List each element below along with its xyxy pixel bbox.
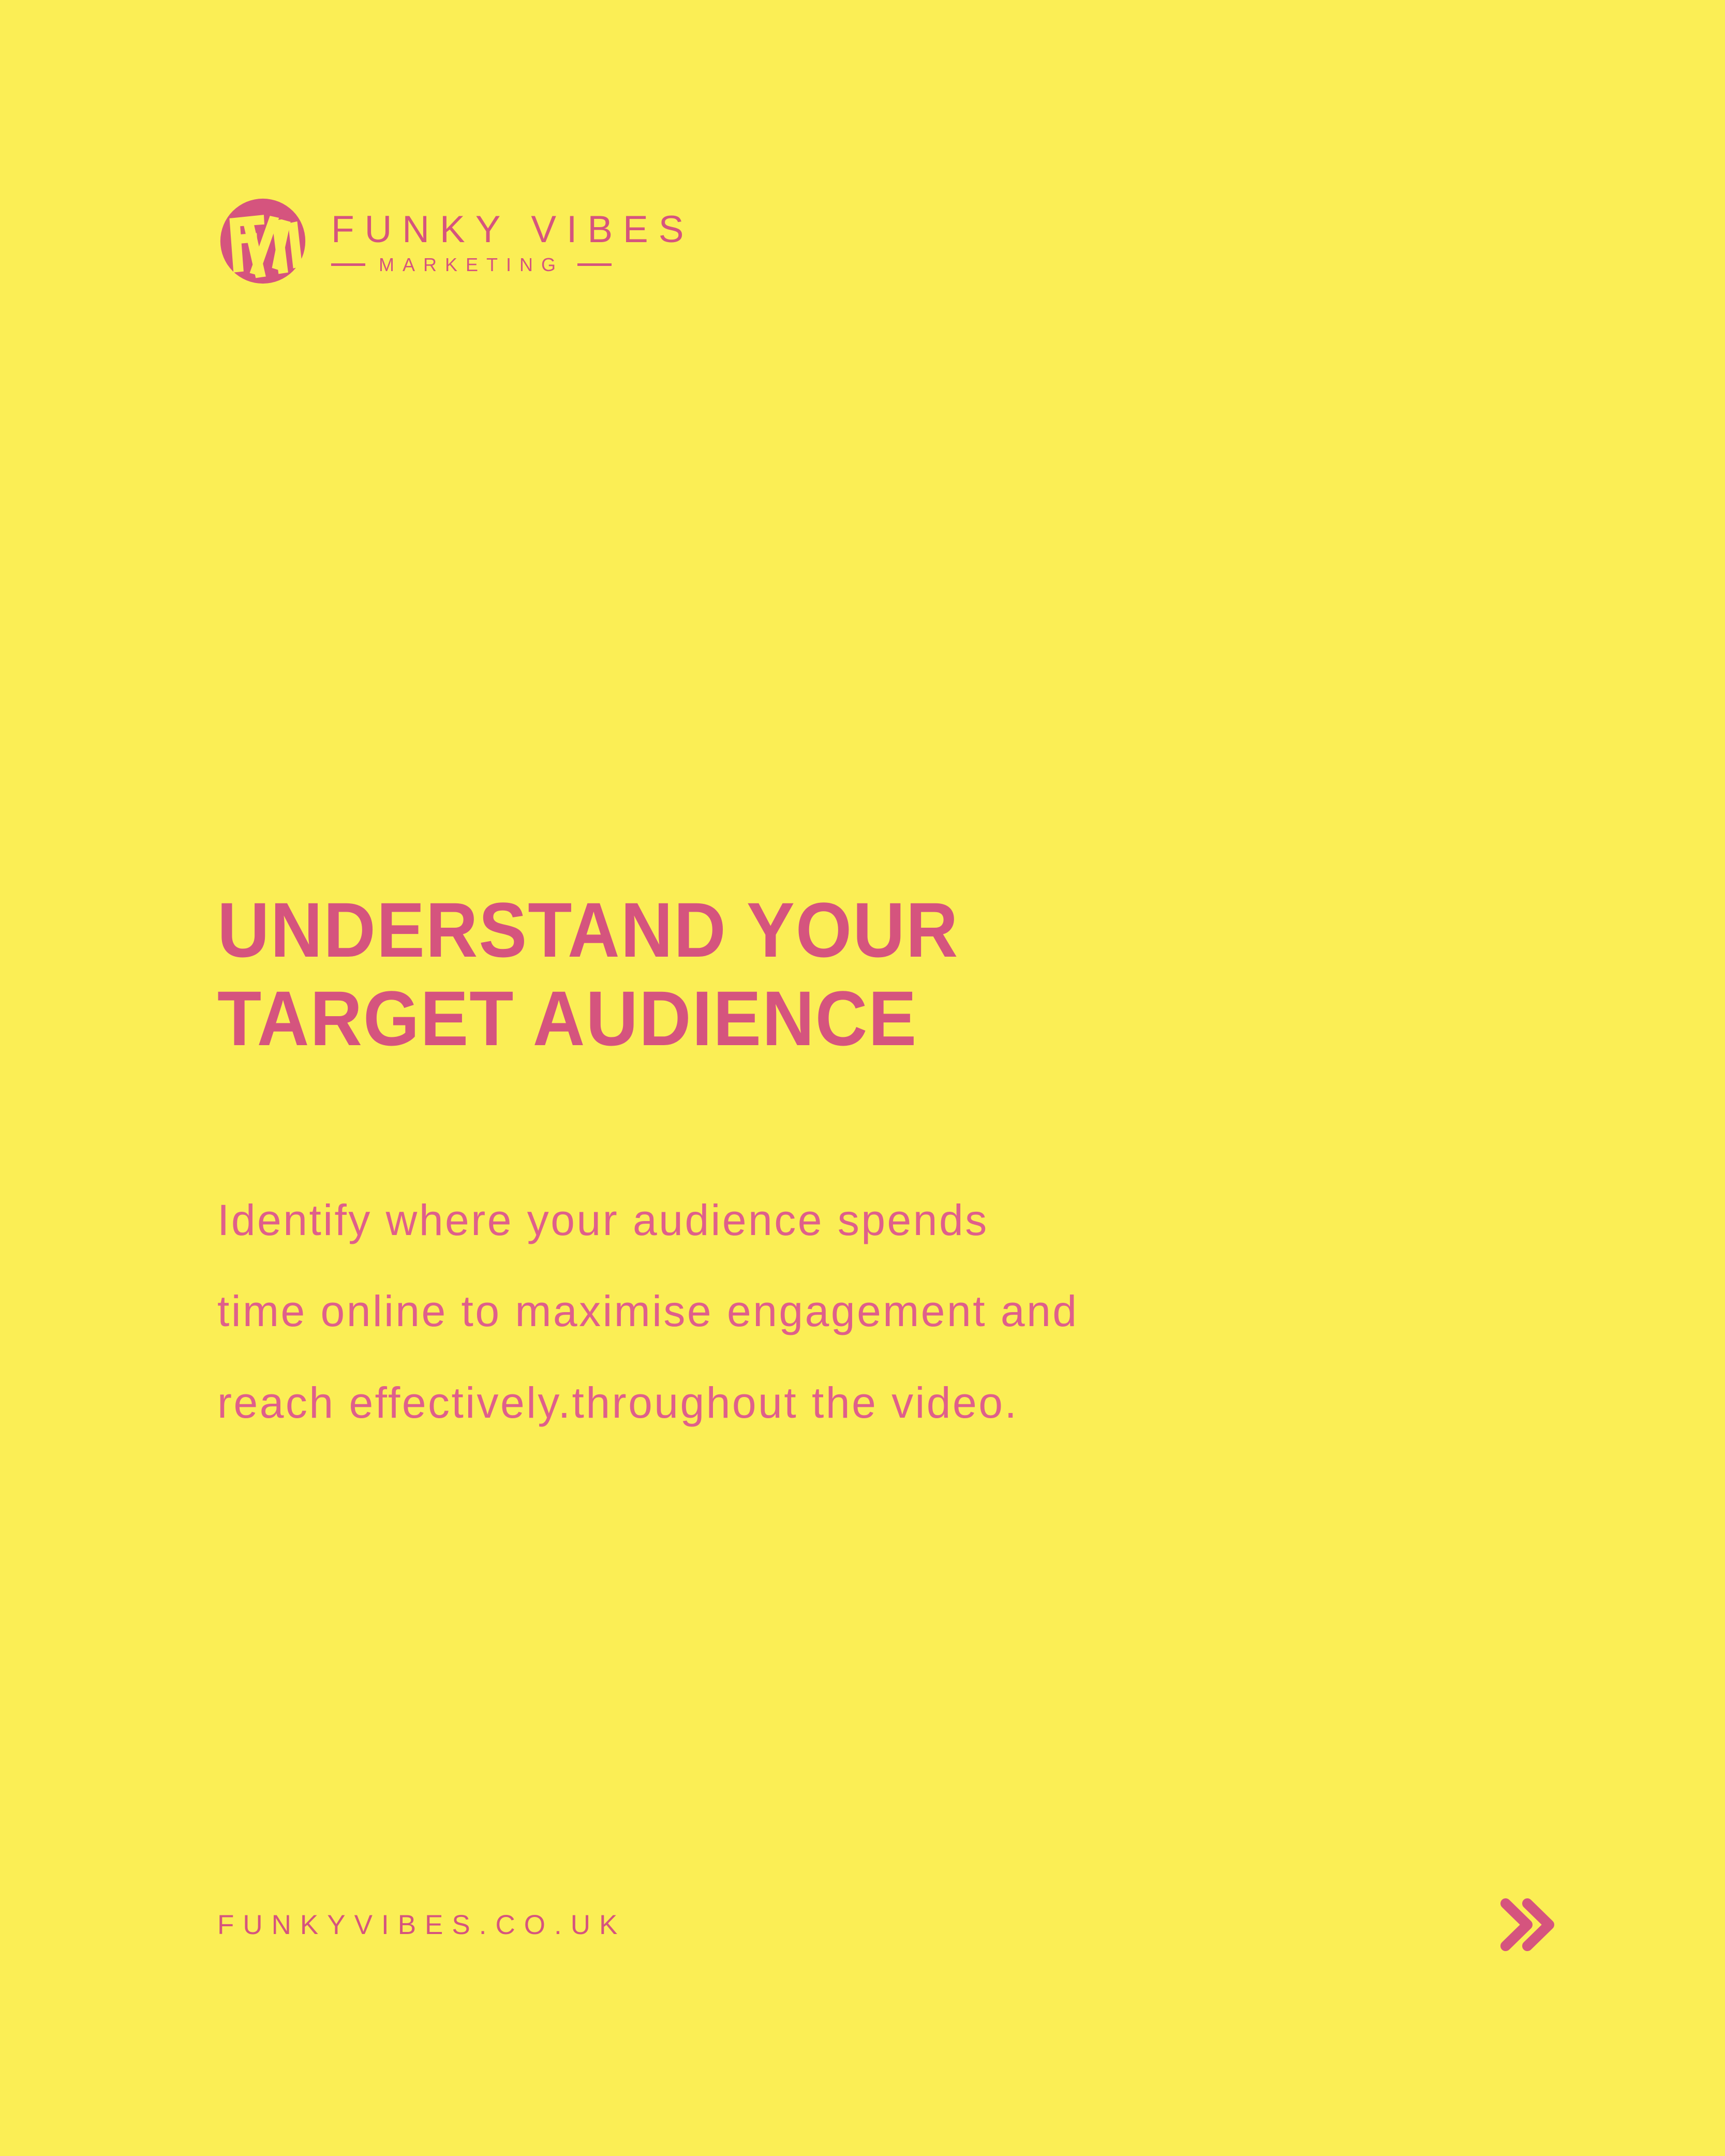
tagline-rule-right bbox=[577, 263, 612, 266]
footer: FUNKYVIBES.CO.UK bbox=[217, 1894, 1554, 1956]
body-line-1: Identify where your audience spends bbox=[217, 1174, 1573, 1266]
headline-line-2: TARGET AUDIENCE bbox=[217, 974, 1324, 1063]
brand-logo-lockup[interactable]: FUNKY VIBES MARKETING bbox=[217, 196, 694, 287]
brand-tagline: MARKETING bbox=[379, 256, 564, 274]
tagline-rule-left bbox=[331, 263, 365, 266]
headline-line-1: UNDERSTAND YOUR bbox=[217, 886, 1324, 974]
slide-canvas: FUNKY VIBES MARKETING UNDERSTAND YOUR TA… bbox=[0, 0, 1725, 2156]
double-chevron-right-icon[interactable] bbox=[1497, 1894, 1554, 1955]
brand-wordmark: FUNKY VIBES MARKETING bbox=[331, 209, 694, 274]
body-line-2: time online to maximise engagement and bbox=[217, 1266, 1573, 1357]
page-title: UNDERSTAND YOUR TARGET AUDIENCE bbox=[217, 886, 1324, 1063]
brand-name: FUNKY VIBES bbox=[331, 211, 694, 248]
body-line-3: reach effectively.throughout the video. bbox=[217, 1357, 1573, 1448]
fvm-monogram-circle-icon bbox=[217, 196, 308, 287]
website-url[interactable]: FUNKYVIBES.CO.UK bbox=[217, 1911, 626, 1939]
body-paragraph: Identify where your audience spends time… bbox=[217, 1174, 1573, 1448]
brand-tagline-row: MARKETING bbox=[331, 256, 694, 274]
